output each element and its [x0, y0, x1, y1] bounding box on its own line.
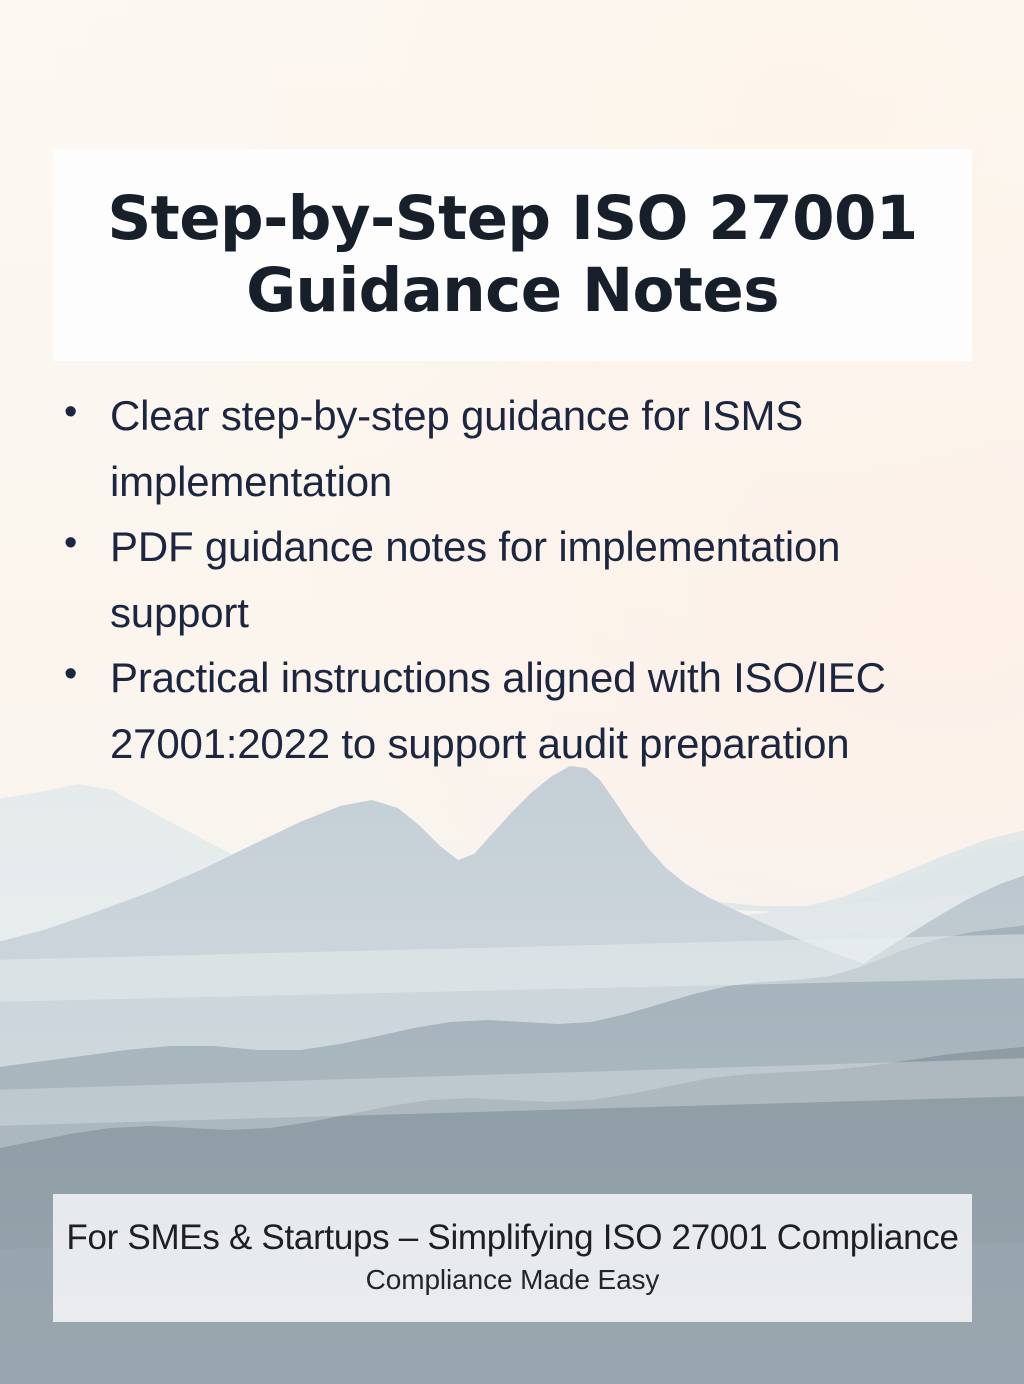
bullet-dot-icon: •: [53, 514, 110, 573]
footer-tagline: For SMEs & Startups – Simplifying ISO 27…: [66, 1217, 958, 1258]
bullet-item-text: PDF guidance notes for implementation su…: [110, 514, 983, 645]
footer-subtagline: Compliance Made Easy: [366, 1262, 660, 1298]
slide-canvas: Step-by-Step ISO 27001 Guidance Notes • …: [0, 0, 1024, 1384]
bullet-item-text: Clear step-by-step guidance for ISMS imp…: [110, 383, 983, 514]
title-card: Step-by-Step ISO 27001 Guidance Notes: [53, 149, 972, 361]
bullet-item-text: Practical instructions aligned with ISO/…: [110, 645, 983, 776]
bullet-item: • PDF guidance notes for implementation …: [53, 514, 983, 645]
slide-title: Step-by-Step ISO 27001 Guidance Notes: [53, 183, 972, 327]
bullet-item: • Practical instructions aligned with IS…: [53, 645, 983, 776]
bullet-list: • Clear step-by-step guidance for ISMS i…: [53, 383, 983, 776]
bullet-item: • Clear step-by-step guidance for ISMS i…: [53, 383, 983, 514]
bullet-dot-icon: •: [53, 383, 110, 442]
bullet-dot-icon: •: [53, 645, 110, 704]
footer-card: For SMEs & Startups – Simplifying ISO 27…: [53, 1194, 972, 1322]
